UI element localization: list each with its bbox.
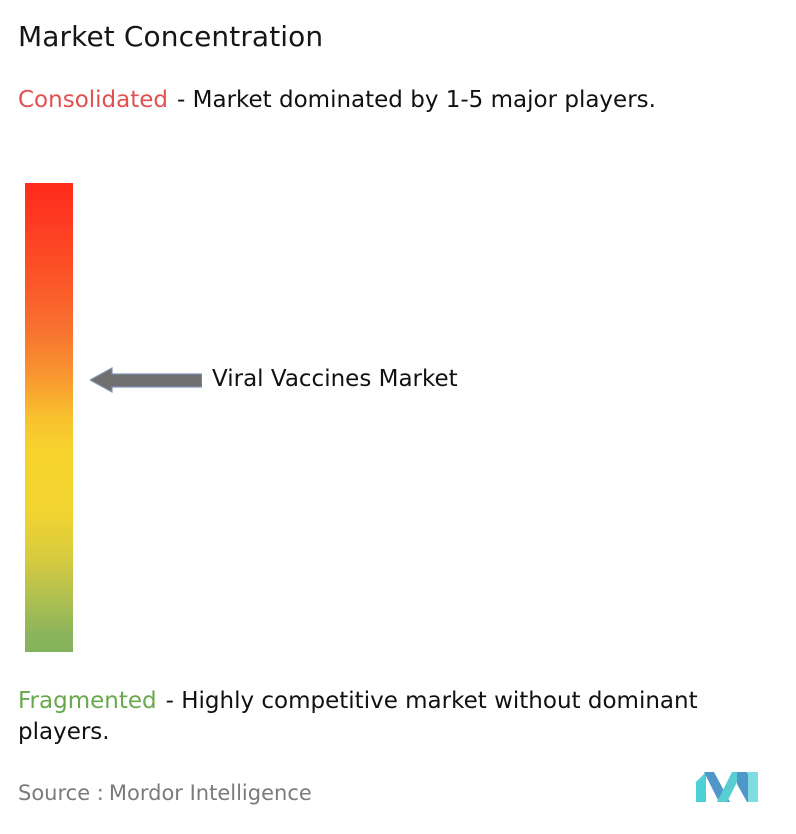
consolidated-description: - Market dominated by 1-5 major players. xyxy=(177,87,656,113)
consolidated-keyword: Consolidated xyxy=(18,87,168,113)
page-title: Market Concentration xyxy=(18,20,323,54)
consolidated-legend: Consolidated- Market dominated by 1-5 ma… xyxy=(18,85,780,116)
logo-shape-1 xyxy=(696,772,706,802)
logo-shape-5 xyxy=(748,772,758,802)
market-position-label: Viral Vaccines Market xyxy=(212,365,458,394)
mordor-intelligence-logo-icon xyxy=(696,770,758,802)
logo-mark xyxy=(696,770,758,802)
market-concentration-scale-bar xyxy=(25,183,73,652)
source-attribution: Source :Mordor Intelligence xyxy=(18,780,312,807)
source-label: Source : xyxy=(18,781,104,805)
left-arrow-shape xyxy=(90,368,202,392)
fragmented-keyword: Fragmented xyxy=(18,688,157,714)
fragmented-legend: Fragmented- Highly competitive market wi… xyxy=(18,686,796,748)
market-position-arrow xyxy=(90,366,202,394)
left-arrow-icon xyxy=(90,366,202,394)
source-name: Mordor Intelligence xyxy=(109,781,312,805)
